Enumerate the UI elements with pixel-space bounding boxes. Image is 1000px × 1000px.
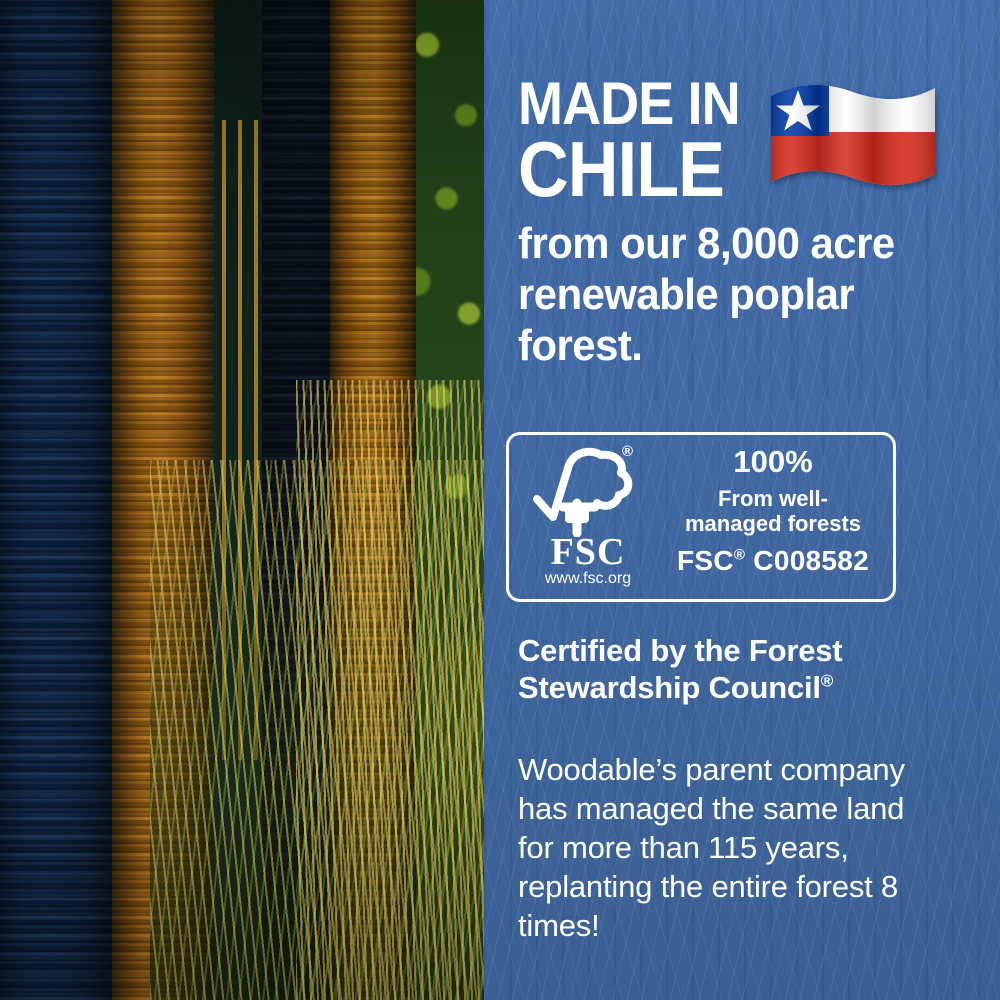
fsc-claim: 100% From well- managed forests FSC® C00… — [659, 445, 887, 577]
fsc-percent: 100% — [659, 445, 887, 479]
fsc-logo: ® FSC www.fsc.org — [523, 441, 653, 599]
description-paragraph: Woodable’s parent company has managed th… — [518, 750, 938, 945]
certified-line-2: Stewardship Council — [518, 670, 821, 705]
info-panel: MADE IN CHILE — [484, 0, 1000, 1000]
headline-block: MADE IN CHILE — [518, 78, 966, 203]
chile-flag-icon — [767, 80, 939, 202]
fsc-wordmark: FSC — [527, 533, 649, 571]
subheadline: from our 8,000 acre renewable poplar for… — [518, 218, 927, 371]
fsc-code-registered-icon: ® — [734, 547, 745, 564]
fsc-license-code: FSC® C008582 — [659, 546, 887, 577]
poplar-forest-photo — [0, 0, 484, 1000]
certified-by-text: Certified by the Forest Stewardship Coun… — [518, 632, 948, 706]
fsc-url: www.fsc.org — [527, 571, 649, 587]
fsc-claim-line-2: managed forests — [685, 511, 861, 536]
certified-registered-icon: ® — [821, 672, 833, 691]
fsc-claim-text: From well- managed forests — [659, 487, 887, 536]
made-in-chile-infographic: MADE IN CHILE — [0, 0, 1000, 1000]
fsc-code-prefix: FSC — [677, 545, 734, 576]
fsc-certification-box: ® FSC www.fsc.org 100% From well- manage… — [506, 432, 896, 602]
fsc-registered-icon: ® — [622, 443, 633, 460]
fsc-claim-line-1: From well- — [718, 486, 828, 511]
fsc-code-number: C008582 — [753, 545, 869, 576]
certified-line-1: Certified by the Forest — [518, 633, 842, 668]
photo-vignette — [0, 0, 484, 1000]
